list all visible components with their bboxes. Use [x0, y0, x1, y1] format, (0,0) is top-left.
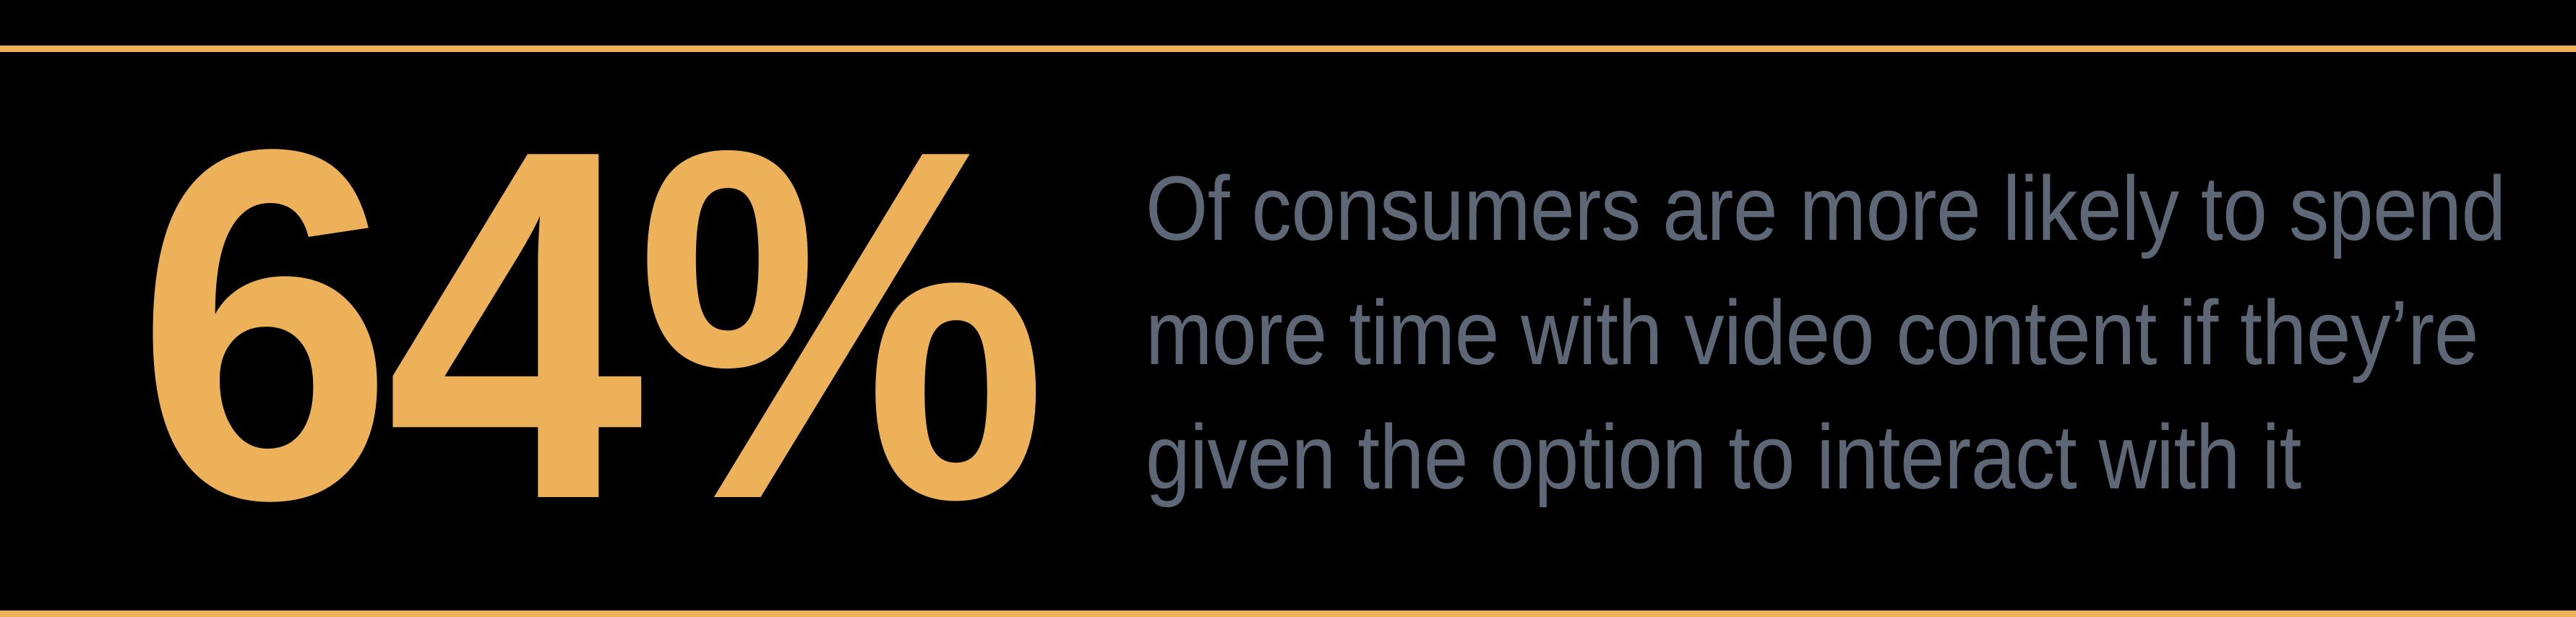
stat-description-line-1: Of consumers are more likely to spend: [1146, 147, 2506, 271]
stat-description-line-3: given the option to interact with it: [1146, 395, 2506, 519]
callout-content: 64% Of consumers are more likely to spen…: [0, 52, 2576, 610]
stat-description-line-2: more time with video content if they’re: [1146, 271, 2506, 395]
stat-percentage: 64%: [136, 141, 1040, 510]
stat-callout-banner: 64% Of consumers are more likely to spen…: [0, 0, 2576, 617]
stat-description: Of consumers are more likely to spend mo…: [1146, 147, 2506, 519]
bottom-accent-rule: [0, 610, 2576, 617]
